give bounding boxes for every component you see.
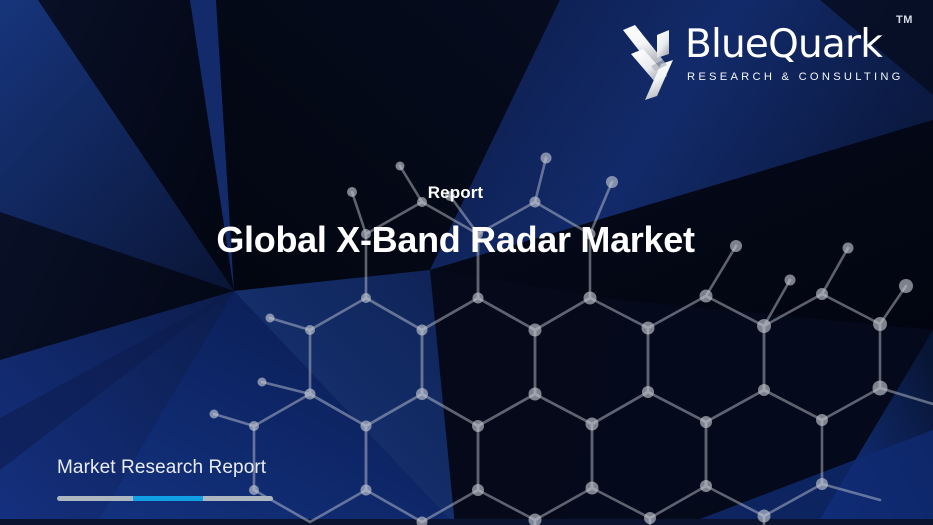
brand-name: BlueQuark <box>685 22 913 68</box>
report-kicker: Report <box>0 182 911 204</box>
accent-bar-segment-blue <box>133 496 203 501</box>
accent-bar-segment-gray-right <box>203 496 273 501</box>
brand-logo: BlueQuark RESEARCH & CONSULTING <box>617 22 913 104</box>
footer-block: Market Research Report <box>57 455 357 501</box>
trademark-symbol: TM <box>896 14 913 26</box>
accent-bar-segment-gray-left <box>57 496 133 501</box>
title-block: Report Global X-Band Radar Market <box>0 182 911 263</box>
accent-bar <box>57 496 273 501</box>
bluequark-double-chevron-icon <box>617 24 683 102</box>
brand-tagline: RESEARCH & CONSULTING <box>685 69 913 85</box>
page-title: Global X-Band Radar Market <box>0 217 911 263</box>
brand-wordmark: BlueQuark RESEARCH & CONSULTING <box>685 22 913 85</box>
report-cover-page: BlueQuark RESEARCH & CONSULTING TM Repor… <box>0 0 933 525</box>
footer-label: Market Research Report <box>57 455 357 481</box>
